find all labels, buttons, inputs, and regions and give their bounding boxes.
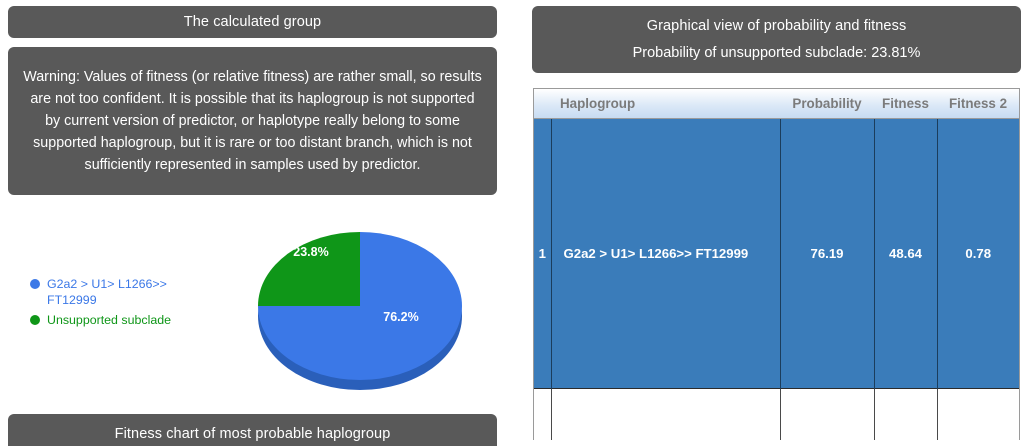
cell-haplogroup: G2a2 > U1> L1266>> FT12999 — [551, 118, 780, 388]
pie-slice-green[interactable] — [258, 232, 360, 306]
cell-probability — [780, 388, 874, 440]
cell-fitness2: 0.78 — [937, 118, 1019, 388]
warning-text: Warning: Values of fitness (or relative … — [22, 66, 483, 176]
cell-index: 1 — [534, 118, 551, 388]
results-table-head: Haplogroup Probability Fitness Fitness 2 — [534, 89, 1019, 118]
results-table-wrapper: Haplogroup Probability Fitness Fitness 2… — [533, 88, 1020, 440]
header-fitness[interactable]: Fitness — [874, 89, 937, 118]
legend-label-haplogroup: G2a2 > U1> L1266>> FT12999 — [47, 276, 167, 308]
cell-index — [534, 388, 551, 440]
cell-fitness — [874, 388, 937, 440]
graphical-view-title: Graphical view of probability and fitnes… — [647, 16, 907, 36]
header-index[interactable] — [534, 89, 551, 118]
cell-probability: 76.19 — [780, 118, 874, 388]
legend-item-unsupported[interactable]: Unsupported subclade — [30, 312, 220, 328]
pie-label-blue: 76.2% — [383, 310, 418, 324]
table-header-row: Haplogroup Probability Fitness Fitness 2 — [534, 89, 1019, 118]
graphical-view-panel: Graphical view of probability and fitnes… — [532, 6, 1021, 73]
cell-fitness: 48.64 — [874, 118, 937, 388]
table-row[interactable]: 1 G2a2 > U1> L1266>> FT12999 76.19 48.64… — [534, 118, 1019, 388]
calculated-group-panel: The calculated group — [8, 6, 497, 38]
legend-item-haplogroup[interactable]: G2a2 > U1> L1266>> FT12999 — [30, 276, 220, 308]
fitness-chart-title: Fitness chart of most probable haplogrou… — [115, 424, 391, 444]
table-row[interactable] — [534, 388, 1019, 440]
pie-label-green: 23.8% — [293, 245, 328, 259]
page-root: The calculated group Warning: Values of … — [0, 0, 1024, 446]
legend-label-unsupported: Unsupported subclade — [47, 312, 171, 328]
pie-legend: G2a2 > U1> L1266>> FT12999 Unsupported s… — [30, 276, 220, 332]
header-fitness2[interactable]: Fitness 2 — [937, 89, 1019, 118]
legend-dot-green — [30, 315, 40, 325]
unsupported-subclade-probability: Probability of unsupported subclade: 23.… — [633, 43, 921, 63]
warning-panel: Warning: Values of fitness (or relative … — [8, 47, 497, 195]
cell-fitness2 — [937, 388, 1019, 440]
results-table: Haplogroup Probability Fitness Fitness 2… — [534, 89, 1019, 440]
header-probability[interactable]: Probability — [780, 89, 874, 118]
calculated-group-title: The calculated group — [184, 12, 321, 32]
cell-haplogroup — [551, 388, 780, 440]
legend-dot-blue — [30, 279, 40, 289]
header-haplogroup[interactable]: Haplogroup — [551, 89, 780, 118]
pie-chart-area: 76.2% 23.8% G2a2 > U1> L1266>> FT12999 U… — [8, 198, 497, 408]
results-table-body: 1 G2a2 > U1> L1266>> FT12999 76.19 48.64… — [534, 118, 1019, 440]
fitness-chart-panel: Fitness chart of most probable haplogrou… — [8, 414, 497, 446]
